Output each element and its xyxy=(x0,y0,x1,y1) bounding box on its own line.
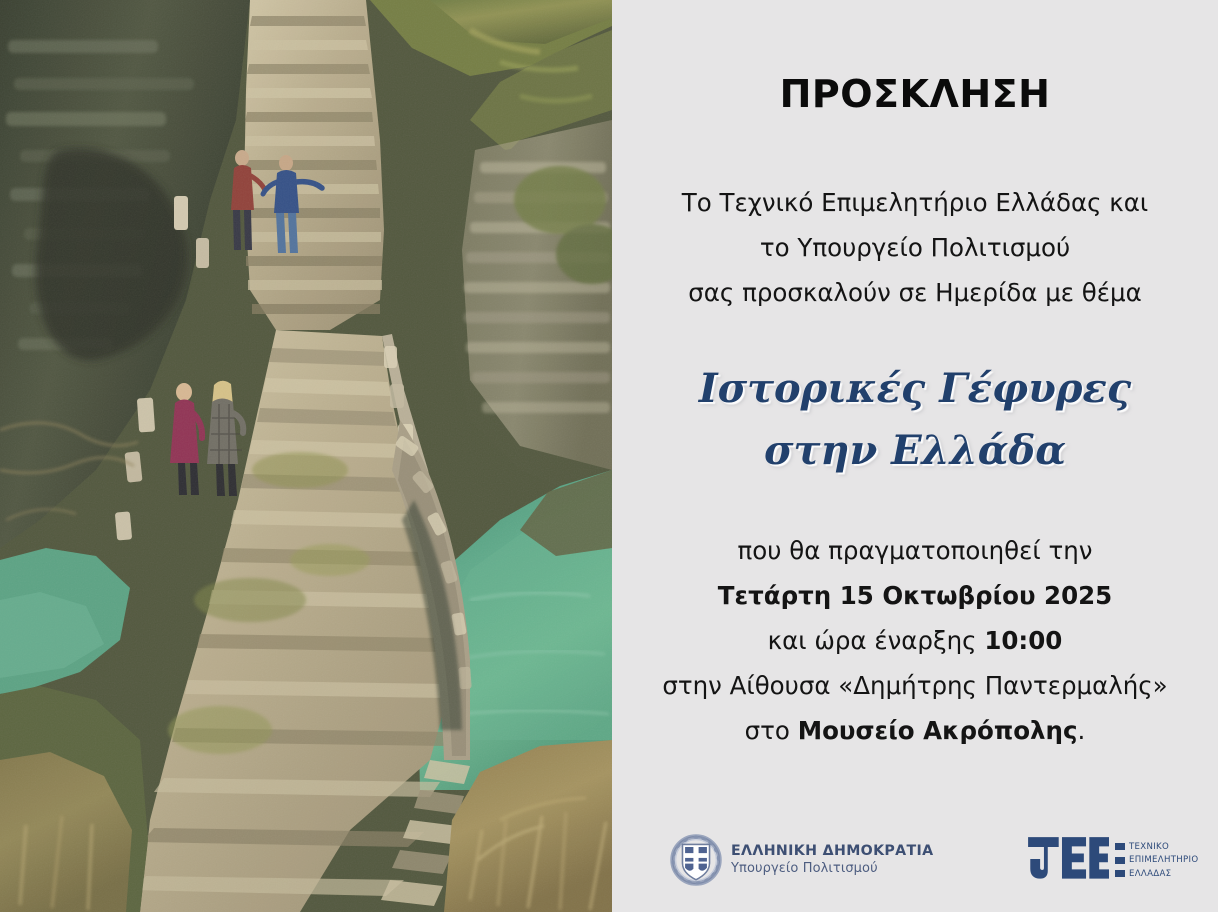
event-time-prefix: και ώρα έναρξης xyxy=(768,626,985,655)
tee-bar-icon xyxy=(1115,870,1125,877)
tee-line-1: ΤΕΧΝΙΚΟ xyxy=(1129,842,1169,852)
event-date: Τετάρτη 15 Οκτωβρίου 2025 xyxy=(612,573,1218,618)
gov-line-2: Υπουργείο Πολιτισμού xyxy=(731,862,933,877)
tee-bar-icon xyxy=(1115,857,1125,864)
tee-line-2: ΕΠΙΜΕΛΗΤΗΡΙΟ xyxy=(1129,855,1198,865)
event-details: που θα πραγματοποιηθεί την Τετάρτη 15 Οκ… xyxy=(612,528,1218,753)
intro-text: Το Τεχνικό Επιμελητήριο Ελλάδας και το Υ… xyxy=(612,180,1218,315)
page-title: ΠΡΟΣΚΛΗΣΗ xyxy=(612,72,1218,116)
hellenic-republic-logo: ΕΛΛΗΝΙΚΗ ΔΗΜΟΚΡΑΤΙΑ Υπουργείο Πολιτισμού xyxy=(670,834,933,886)
venue-prefix: στο xyxy=(745,716,798,745)
hellenic-republic-emblem-icon xyxy=(670,834,722,886)
venue-suffix: . xyxy=(1078,716,1086,745)
tee-line-3: ΕΛΛΑΔΑΣ xyxy=(1129,869,1171,879)
event-hall: στην Αίθουσα «Δημήτρης Παντερμαλής» xyxy=(612,663,1218,708)
bridge-photo-illustration xyxy=(0,0,612,912)
event-title: Ιστορικές Γέφυρες στην Ελλάδα xyxy=(612,358,1218,482)
intro-line-1: Το Τεχνικό Επιμελητήριο Ελλάδας και xyxy=(612,180,1218,225)
event-venue: Μουσείο Ακρόπολης xyxy=(798,716,1078,745)
tee-line-2-row: ΕΠΙΜΕΛΗΤΗΡΙΟ xyxy=(1115,855,1198,865)
invitation-text-panel: ΠΡΟΣΚΛΗΣΗ Το Τεχνικό Επιμελητήριο Ελλάδα… xyxy=(612,0,1218,912)
tee-logo: ΤΕΧΝΙΚΟ ΕΠΙΜΕΛΗΤΗΡΙΟ ΕΛΛΑΔΑΣ xyxy=(1027,836,1198,882)
invitation-page: ΠΡΟΣΚΛΗΣΗ Το Τεχνικό Επιμελητήριο Ελλάδα… xyxy=(0,0,1218,912)
event-time: 10:00 xyxy=(984,626,1062,655)
event-title-line-2: στην Ελλάδα xyxy=(612,420,1218,482)
logo-row: ΕΛΛΗΝΙΚΗ ΔΗΜΟΚΡΑΤΙΑ Υπουργείο Πολιτισμού xyxy=(612,826,1218,904)
tee-line-3-row: ΕΛΛΑΔΑΣ xyxy=(1115,869,1198,879)
intro-line-2: το Υπουργείο Πολιτισμού xyxy=(612,225,1218,270)
tee-bar-icon xyxy=(1115,843,1125,850)
tee-wordmark-icon xyxy=(1027,836,1109,882)
event-venue-line: στο Μουσείο Ακρόπολης. xyxy=(612,708,1218,753)
hellenic-republic-text: ΕΛΛΗΝΙΚΗ ΔΗΜΟΚΡΑΤΙΑ Υπουργείο Πολιτισμού xyxy=(731,844,933,876)
event-time-line: και ώρα έναρξης 10:00 xyxy=(612,618,1218,663)
details-intro-line: που θα πραγματοποιηθεί την xyxy=(612,528,1218,573)
intro-line-3: σας προσκαλούν σε Ημερίδα με θέμα xyxy=(612,270,1218,315)
tee-subtitle: ΤΕΧΝΙΚΟ ΕΠΙΜΕΛΗΤΗΡΙΟ ΕΛΛΑΔΑΣ xyxy=(1115,840,1198,879)
tee-line-1-row: ΤΕΧΝΙΚΟ xyxy=(1115,842,1198,852)
bridge-photo xyxy=(0,0,612,912)
gov-line-1: ΕΛΛΗΝΙΚΗ ΔΗΜΟΚΡΑΤΙΑ xyxy=(731,844,933,860)
event-title-line-1: Ιστορικές Γέφυρες xyxy=(612,358,1218,420)
